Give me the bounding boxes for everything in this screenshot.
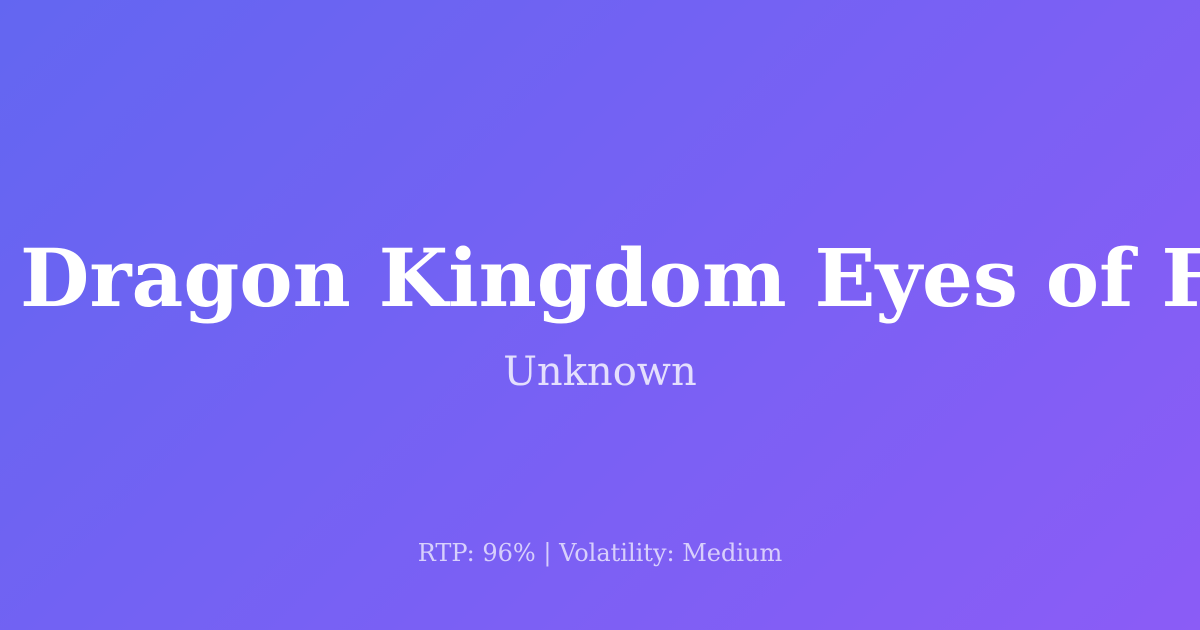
game-provider-subtitle: Unknown [503,348,697,396]
game-preview-card: Dragon Kingdom Eyes of Fire Unknown RTP:… [0,0,1200,630]
game-stats-line: RTP: 96% | Volatility: Medium [0,539,1200,568]
title-block: Dragon Kingdom Eyes of Fire Unknown [0,0,1200,630]
page-title: Dragon Kingdom Eyes of Fire [0,234,1200,322]
